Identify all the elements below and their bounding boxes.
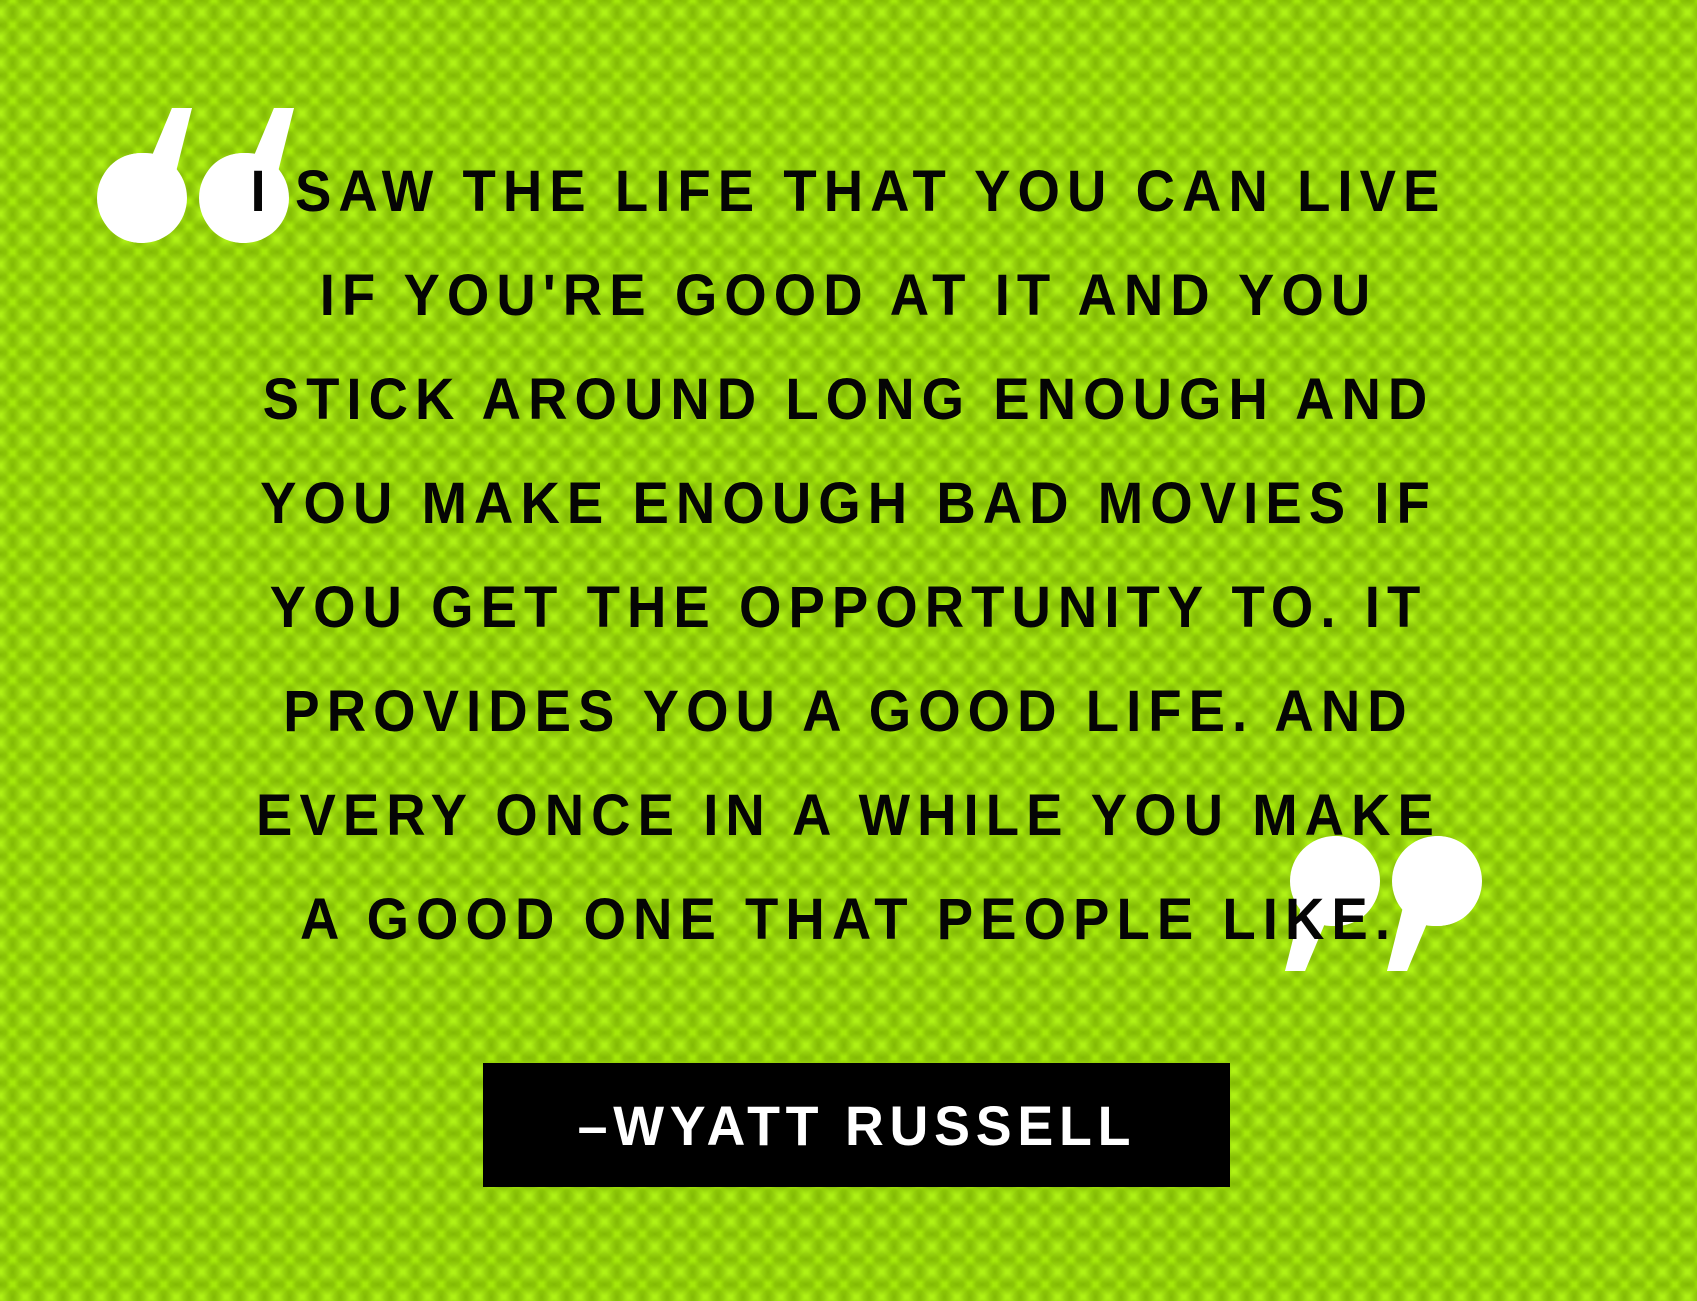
quote-line: I SAW THE LIFE THAT YOU CAN LIVE xyxy=(51,140,1646,244)
quote-text: I SAW THE LIFE THAT YOU CAN LIVE IF YOU'… xyxy=(0,140,1697,972)
quote-line: YOU GET THE OPPORTUNITY TO. IT xyxy=(51,556,1646,660)
quote-poster: I SAW THE LIFE THAT YOU CAN LIVE IF YOU'… xyxy=(0,0,1697,1301)
quote-line: EVERY ONCE IN A WHILE YOU MAKE xyxy=(51,764,1646,868)
quote-line: STICK AROUND LONG ENOUGH AND xyxy=(51,348,1646,452)
attribution-author: –WYATT RUSSELL xyxy=(577,1093,1136,1158)
quote-line: A GOOD ONE THAT PEOPLE LIKE. xyxy=(51,868,1646,972)
attribution-bar: –WYATT RUSSELL xyxy=(483,1063,1230,1187)
quote-line: IF YOU'RE GOOD AT IT AND YOU xyxy=(51,244,1646,348)
quote-line: YOU MAKE ENOUGH BAD MOVIES IF xyxy=(51,452,1646,556)
quote-line: PROVIDES YOU A GOOD LIFE. AND xyxy=(51,660,1646,764)
